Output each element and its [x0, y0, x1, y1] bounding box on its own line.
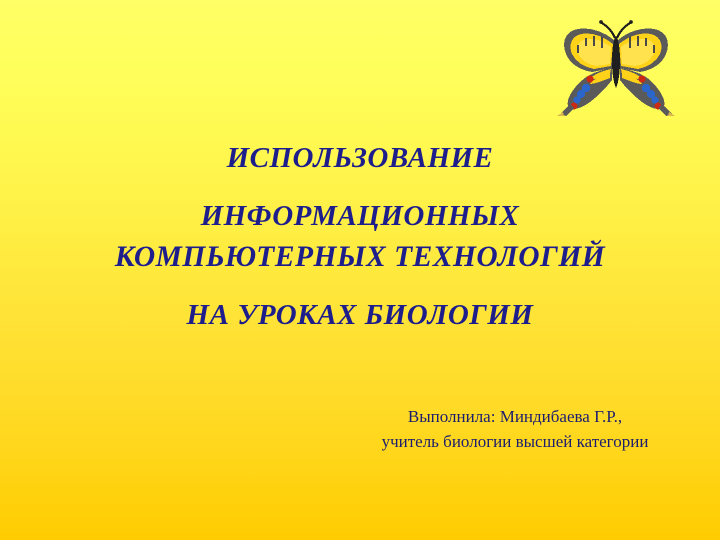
right-antenna-tip: [629, 20, 633, 24]
right-tail-tip: [668, 112, 675, 116]
left-tail-tip: [557, 112, 564, 116]
author-name-line: Выполнила: Миндибаева Г.Р.,: [330, 404, 700, 429]
title-line-3: КОМПЬЮТЕРНЫХ ТЕХНОЛОГИЙ: [40, 237, 680, 277]
title-line-2: ИНФОРМАЦИОННЫХ: [40, 196, 680, 236]
title-line-4: НА УРОКАХ БИОЛОГИИ: [40, 295, 680, 335]
butterfly-image: [552, 18, 680, 116]
author-role-line: учитель биологии высшей категории: [330, 429, 700, 454]
presentation-slide: ИСПОЛЬЗОВАНИЕ ИНФОРМАЦИОННЫХ КОМПЬЮТЕРНЫ…: [0, 0, 720, 540]
left-antenna-tip: [599, 20, 603, 24]
title-line-1: ИСПОЛЬЗОВАНИЕ: [40, 138, 680, 178]
author-attribution: Выполнила: Миндибаева Г.Р., учитель биол…: [330, 404, 700, 454]
page-title: ИСПОЛЬЗОВАНИЕ ИНФОРМАЦИОННЫХ КОМПЬЮТЕРНЫ…: [40, 138, 680, 335]
